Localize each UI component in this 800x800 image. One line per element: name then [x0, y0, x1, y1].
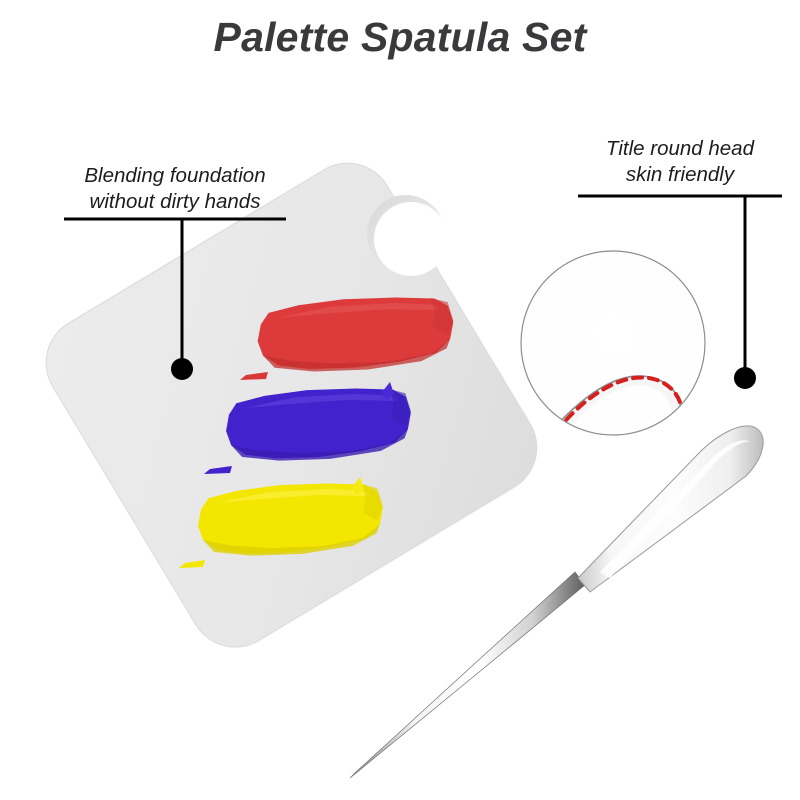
callout-text-blending: Blending foundation without dirty hands — [62, 163, 288, 215]
callout-dot-left — [171, 358, 193, 380]
product-illustration — [0, 0, 800, 800]
callout-text-round-head: Title round head skin friendly — [578, 136, 782, 188]
callout-dot-right — [734, 367, 756, 389]
thumb-hole — [374, 202, 448, 276]
product-infographic: Palette Spatula Set — [0, 0, 800, 800]
spatula-handle — [350, 572, 585, 778]
